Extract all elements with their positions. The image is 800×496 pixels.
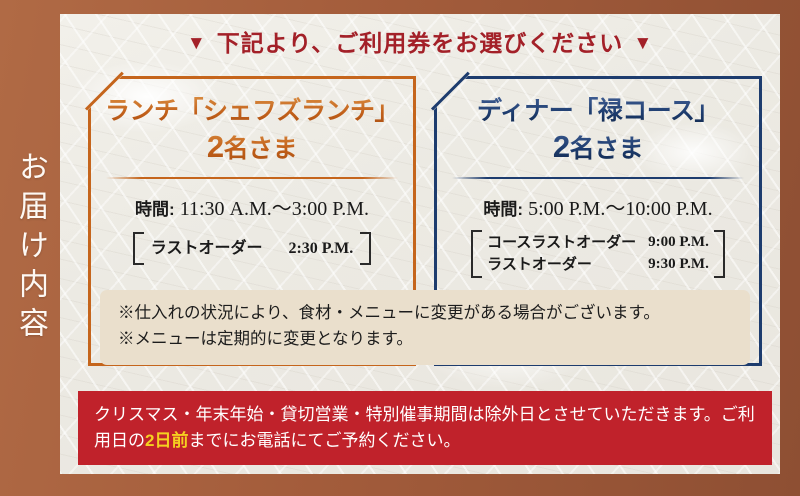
notice-text-after: までにお電話にてご予約ください。 [188, 431, 460, 450]
course-party-size-lunch: 2名さま [102, 129, 402, 165]
triangle-right-icon: ▼ [633, 33, 653, 54]
notice-highlight: 2日前 [145, 431, 188, 450]
course-party-size-dinner: 2名さま [448, 129, 748, 165]
last-order-box-dinner: コースラストオーダー 9:00 P.M. ラストオーダー 9:30 P.M. [471, 230, 725, 278]
party-size-suffix-lunch: 名さま [224, 135, 298, 163]
triangle-left-icon: ▼ [187, 33, 207, 54]
course-hours-dinner: 時間: 5:00 P.M.〜10:00 P.M. [448, 192, 748, 221]
sidebar-delivery-contents: お届け内容 [0, 0, 60, 496]
page-title-text: 下記より、ご利用券をお選びください [217, 30, 624, 56]
sidebar-label: お届け内容 [15, 151, 45, 346]
course-hours-lunch: 時間: 11:30 A.M.〜3:00 P.M. [102, 192, 402, 221]
hours-value-lunch: 11:30 A.M.〜3:00 P.M. [180, 198, 369, 220]
hours-label-lunch: 時間: [135, 200, 175, 219]
last-order-box-lunch: ラストオーダー 2:30 P.M. [133, 232, 371, 265]
card-divider-dinner [452, 177, 744, 179]
reservation-notice-box: クリスマス・年末年始・貸切営業・特別催事期間は除外日とさせていただきます。ご利用… [78, 391, 772, 465]
menu-note-line-2: ※メニューは定期的に変更となります。 [118, 327, 732, 353]
party-size-number-lunch: 2 [207, 129, 224, 164]
party-size-suffix-dinner: 名さま [570, 135, 644, 163]
card-divider-lunch [106, 177, 398, 179]
hours-value-dinner: 5:00 P.M.〜10:00 P.M. [528, 198, 713, 220]
last-order-row: ラストオーダー 9:30 P.M. [487, 254, 709, 276]
last-order-label: ラストオーダー [487, 254, 592, 276]
course-title-lunch: ランチ「シェフズランチ」 [102, 96, 402, 127]
last-order-label: コースラストオーダー [487, 232, 636, 254]
voucher-frame: お届け内容 ▼下記より、ご利用券をお選びください▼ ランチ「シェフズランチ」 2… [0, 0, 800, 496]
last-order-label: ラストオーダー [151, 237, 263, 260]
last-order-time: 9:30 P.M. [648, 254, 709, 276]
last-order-time: 9:00 P.M. [648, 232, 709, 254]
menu-notes-box: ※仕入れの状況により、食材・メニューに変更がある場合がございます。 ※メニューは… [100, 290, 750, 365]
course-title-dinner: ディナー「禄コース」 [448, 96, 748, 127]
last-order-row: ラストオーダー 2:30 P.M. [151, 237, 353, 260]
party-size-number-dinner: 2 [553, 129, 570, 164]
menu-note-line-1: ※仕入れの状況により、食材・メニューに変更がある場合がございます。 [118, 301, 732, 327]
last-order-time: 2:30 P.M. [288, 237, 353, 260]
page-title: ▼下記より、ご利用券をお選びください▼ [60, 24, 780, 58]
last-order-row: コースラストオーダー 9:00 P.M. [487, 232, 709, 254]
hours-label-dinner: 時間: [483, 200, 523, 219]
